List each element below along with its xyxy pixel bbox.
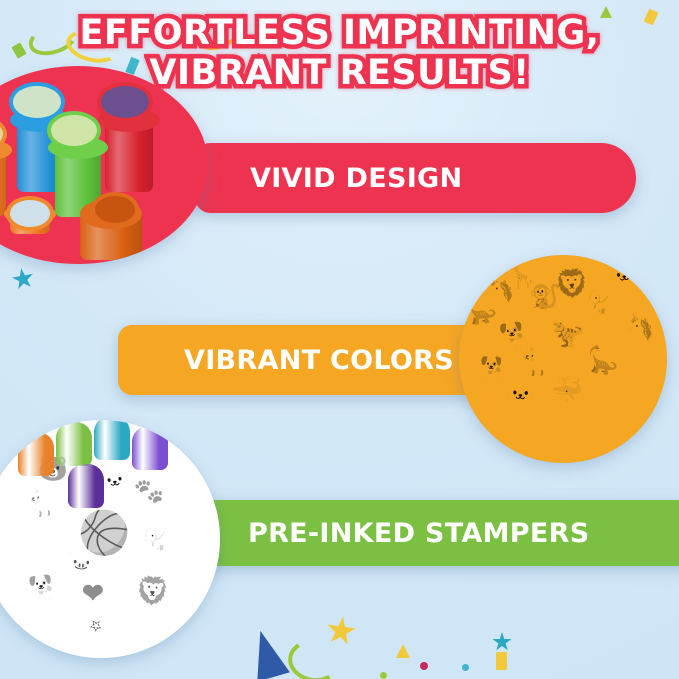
animal-doodle: ✨: [12, 538, 39, 560]
animal-doodle: 🐕: [498, 322, 532, 350]
animal-doodle: 🐳: [550, 376, 585, 405]
feature-label-vivid-design: VIVID DESIGN: [250, 163, 462, 194]
feature-banner-vivid-design[interactable]: VIVID DESIGN: [196, 143, 636, 213]
animal-doodle: 🦕: [586, 345, 621, 375]
page-title: EFFORTLESS IMPRINTING, VIBRANT RESULTS!: [0, 14, 679, 94]
feature-label-vibrant-colors: VIBRANT COLORS: [184, 345, 454, 376]
title-line-2: VIBRANT RESULTS!: [0, 54, 679, 94]
animal-doodle: ⭐: [616, 387, 650, 415]
animal-doodle: 🐕: [478, 358, 510, 385]
infographic-canvas: EFFORTLESS IMPRINTING, VIBRANT RESULTS! …: [0, 0, 679, 679]
stamper-thumbnail: [68, 464, 104, 508]
stamper-face: [6, 196, 54, 231]
stamper-thumbnail: [94, 420, 130, 460]
stamper-body: [0, 150, 6, 216]
animal-doodle: 🌸: [79, 611, 114, 640]
animal-doodle: 🐱: [608, 261, 641, 288]
stamper-face: [47, 111, 101, 150]
animal-doodle: 🐱: [504, 380, 537, 407]
animal-doodle: 🐘: [141, 525, 176, 554]
animal-doodle: ❤: [82, 580, 104, 606]
animal-doodle: 🐕: [27, 575, 61, 603]
animal-doodle: 🐾: [133, 479, 164, 505]
animal-doodle: 🐘: [584, 288, 620, 318]
animal-doodle: 🦁: [135, 577, 171, 607]
title-line-1: EFFORTLESS IMPRINTING,: [0, 14, 679, 54]
feature-image-vibrant-colors: 🦕🦄🦒🐒🦁🐘🐱🦄🐕🦖🐈🦕🐳🐱⭐🐕: [459, 255, 667, 463]
stamper-thumbnail: [56, 422, 92, 466]
animal-doodle: 🦁: [554, 270, 589, 299]
animal-doodle: 🐈: [27, 489, 62, 518]
animal-doodle: 🦖: [550, 320, 585, 349]
stamper-thumbnail: [132, 426, 168, 470]
feature-label-pre-inked-stampers: PRE-INKED STAMPERS: [248, 518, 589, 549]
animal-doodle: 🦄: [623, 315, 656, 343]
stamper-face: [91, 192, 139, 227]
animal-doodle: 🐈: [521, 349, 555, 376]
stamper-thumbnail: [18, 432, 54, 476]
animal-doodle: 🐷: [65, 547, 99, 575]
